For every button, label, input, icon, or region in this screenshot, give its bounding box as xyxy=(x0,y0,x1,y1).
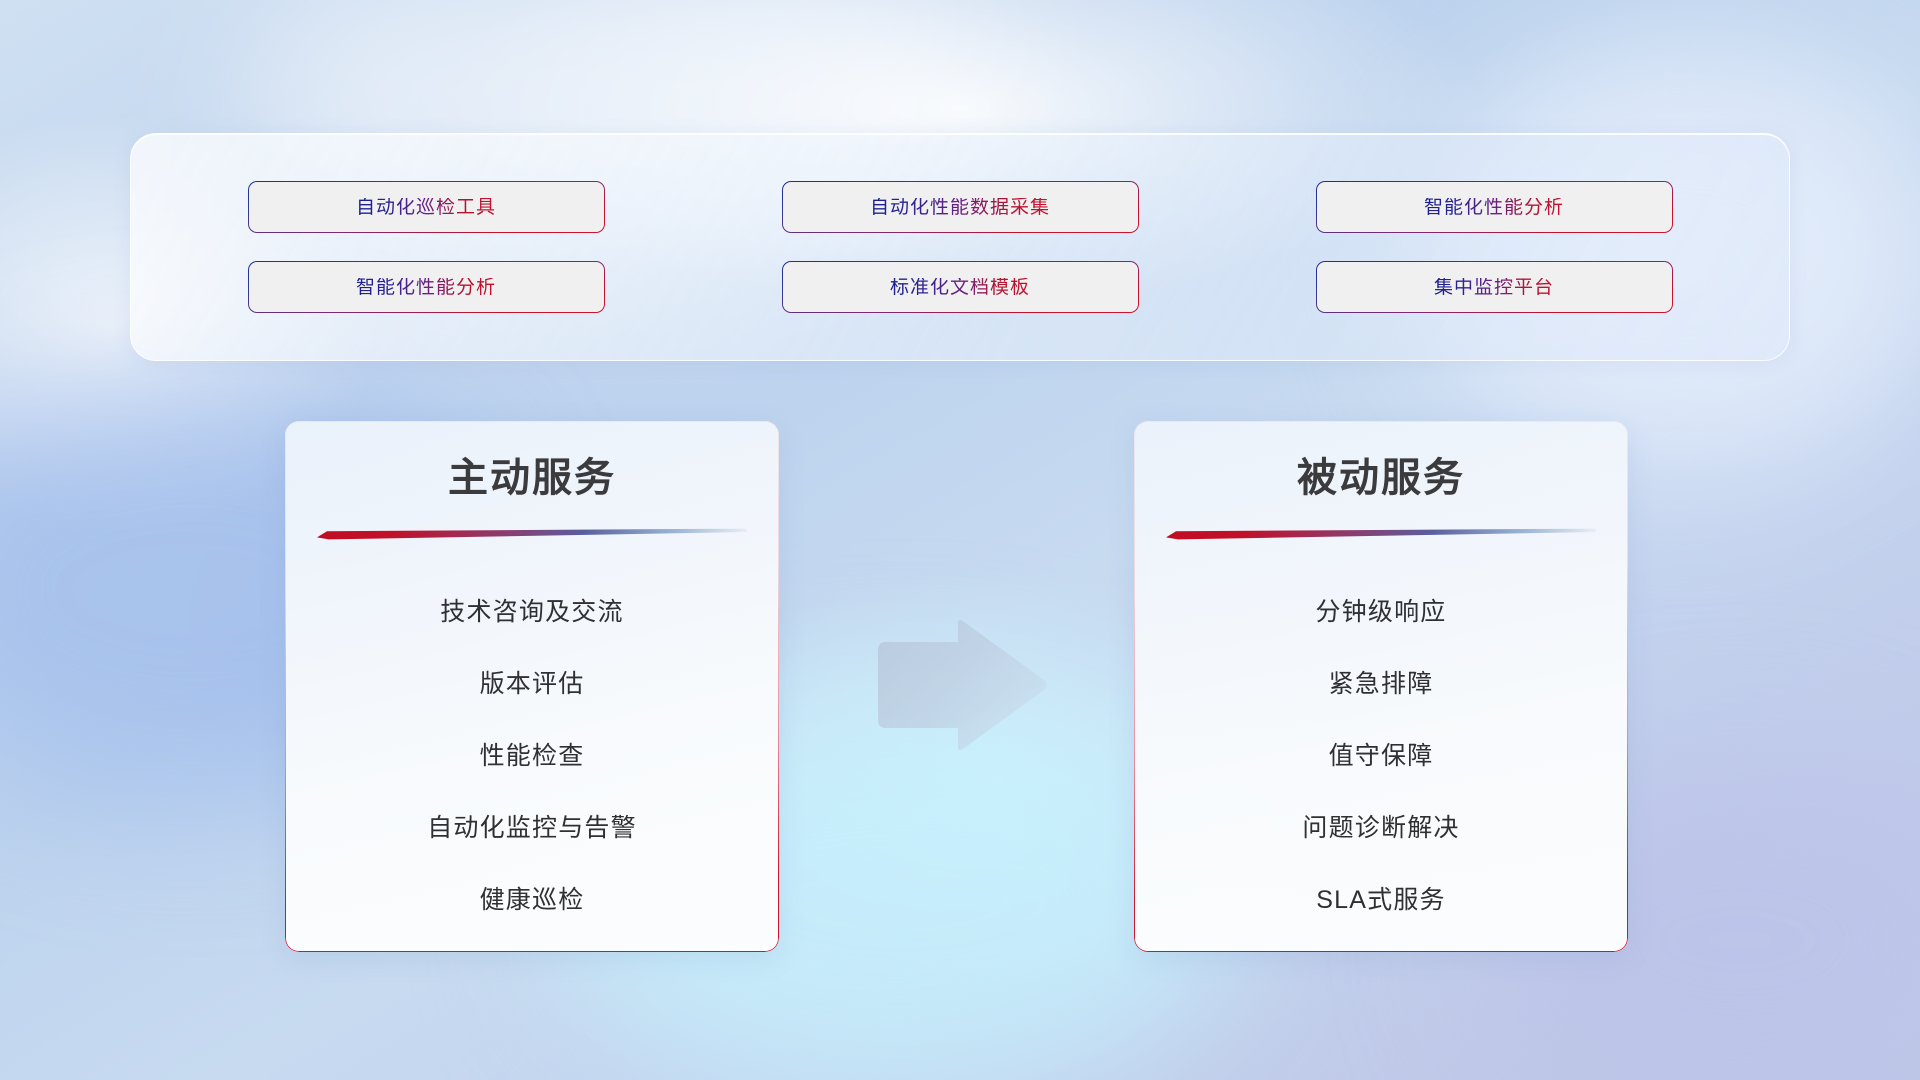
passive-service-divider xyxy=(1166,528,1596,540)
service-list-item: 问题诊断解决 xyxy=(1134,790,1628,862)
active-service-divider xyxy=(317,528,747,540)
capability-pill[interactable]: 智能化性能分析 xyxy=(1316,181,1673,233)
capability-pill[interactable]: 自动化巡检工具 xyxy=(248,181,605,233)
capability-pill-grid: 自动化巡检工具 自动化性能数据采集 智能化性能分析 智能化性能分析 标准化文档模… xyxy=(131,134,1789,360)
service-list-item: SLA式服务 xyxy=(1134,862,1628,934)
service-list-item: 技术咨询及交流 xyxy=(285,574,779,646)
service-list-item: 性能检查 xyxy=(285,718,779,790)
arrow-right-icon xyxy=(872,620,1048,750)
active-service-list: 技术咨询及交流 版本评估 性能检查 自动化监控与告警 健康巡检 xyxy=(285,574,779,934)
active-service-card: 主动服务 技术咨询及交流 版本评估 性能检查 xyxy=(285,421,779,952)
capability-pill-label: 标准化文档模板 xyxy=(890,278,1030,297)
active-service-title: 主动服务 xyxy=(285,456,779,500)
capability-pill-label: 自动化巡检工具 xyxy=(356,198,496,217)
service-list-item: 版本评估 xyxy=(285,646,779,718)
passive-service-card: 被动服务 分钟级响应 紧急排障 值守保障 xyxy=(1134,421,1628,952)
service-list-item: 健康巡检 xyxy=(285,862,779,934)
capability-pill-label: 自动化性能数据采集 xyxy=(870,198,1050,217)
capability-panel: 自动化巡检工具 自动化性能数据采集 智能化性能分析 智能化性能分析 标准化文档模… xyxy=(130,133,1790,361)
capability-pill[interactable]: 标准化文档模板 xyxy=(782,261,1139,313)
capability-pill[interactable]: 集中监控平台 xyxy=(1316,261,1673,313)
capability-pill-label: 智能化性能分析 xyxy=(1424,198,1564,217)
service-list-item: 分钟级响应 xyxy=(1134,574,1628,646)
passive-service-list: 分钟级响应 紧急排障 值守保障 问题诊断解决 SLA式服务 xyxy=(1134,574,1628,934)
capability-pill-label: 智能化性能分析 xyxy=(356,278,496,297)
capability-pill[interactable]: 自动化性能数据采集 xyxy=(782,181,1139,233)
service-list-item: 自动化监控与告警 xyxy=(285,790,779,862)
capability-pill-label: 集中监控平台 xyxy=(1434,278,1554,297)
capability-pill[interactable]: 智能化性能分析 xyxy=(248,261,605,313)
service-list-item: 值守保障 xyxy=(1134,718,1628,790)
service-list-item: 紧急排障 xyxy=(1134,646,1628,718)
slide-canvas: 自动化巡检工具 自动化性能数据采集 智能化性能分析 智能化性能分析 标准化文档模… xyxy=(0,0,1920,1080)
passive-service-title: 被动服务 xyxy=(1134,456,1628,500)
